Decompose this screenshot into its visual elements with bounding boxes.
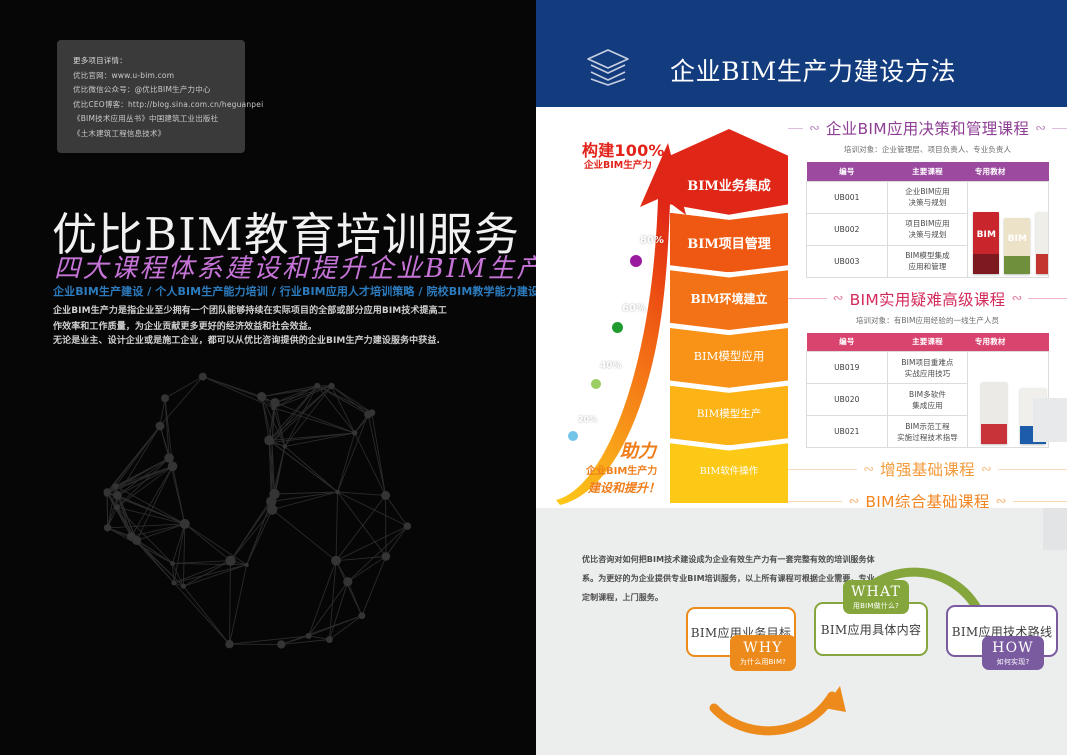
rule-right bbox=[1052, 128, 1067, 129]
contact-line: 《BIM技术应用丛书》中国建筑工业出版社 bbox=[73, 112, 229, 127]
rule-left bbox=[788, 128, 803, 129]
column-header: 编号 bbox=[807, 162, 888, 181]
contact-line: 优比官网：www.u-bim.com bbox=[73, 69, 229, 84]
pyramid-level-label: BIM环境建立 bbox=[670, 290, 788, 307]
textbook-images: BIMBIM bbox=[968, 181, 1049, 277]
course-table: 编号主要课程专用教材UB019BIM项目重难点实战应用技巧BIMUB020BIM… bbox=[806, 333, 1049, 449]
column-header: 专用教材 bbox=[968, 162, 1049, 181]
section-header-title: 企业BIM生产力建设方法 bbox=[670, 52, 956, 88]
textbook-cover: BIM bbox=[973, 212, 999, 274]
textbook-cover: BIM bbox=[1004, 218, 1030, 274]
milestone-label-20: 20% bbox=[578, 415, 597, 424]
contact-line: 《土木建筑工程信息技术》 bbox=[73, 127, 229, 142]
textbook-strip bbox=[973, 254, 999, 274]
section-title: BIM实用疑难高级课程 bbox=[850, 288, 1006, 310]
contact-line: 更多项目详情： bbox=[73, 54, 229, 69]
network-globe-graphic bbox=[40, 330, 480, 750]
course-name: 项目BIM应用决策与规划 bbox=[887, 213, 968, 245]
rule-right bbox=[1028, 298, 1067, 299]
section-audience: 培训对象：企业管理层、项目负责人、专业负责人 bbox=[788, 144, 1067, 155]
bim-capability-pyramid: BIM业务集成BIM项目管理BIM环境建立BIM模型应用BIM模型生产BIM软件… bbox=[670, 129, 788, 501]
section-advanced-course: ∾BIM实用疑难高级课程∾培训对象：有BIM应用经验的一线生产人员编号主要课程专… bbox=[788, 288, 1067, 449]
swirl-ornament-icon: ∾ bbox=[981, 463, 992, 476]
flow-why-tag-title: WHY bbox=[743, 640, 782, 656]
textbook-title: BIM bbox=[973, 231, 999, 240]
course-name: 企业BIM应用决策与规划 bbox=[887, 181, 968, 213]
pyramid-level-label: BIM业务集成 bbox=[670, 175, 788, 194]
section-title: 增强基础课程 bbox=[880, 458, 975, 480]
course-code: UB001 bbox=[807, 181, 888, 213]
milestone-dot-60 bbox=[610, 320, 625, 335]
swirl-ornament-icon: ∾ bbox=[833, 292, 844, 305]
rule-right bbox=[998, 469, 1067, 470]
swirl-ornament-icon: ∾ bbox=[1011, 292, 1022, 305]
rule-left bbox=[788, 501, 842, 502]
milestone-dot-40 bbox=[589, 377, 603, 391]
course-name: BIM模型集成应用和管理 bbox=[887, 245, 968, 277]
milestone-label-60: 60% bbox=[622, 303, 646, 314]
left-dark-panel: 更多项目详情： 优比官网：www.u-bim.com 优比微信公众号：@优比BI… bbox=[0, 0, 536, 755]
course-system-links[interactable]: 企业BIM生产建设 / 个人BIM生产能力培训 / 行业BIM应用人才培训策略 … bbox=[53, 283, 536, 299]
milestone-dot-20 bbox=[566, 429, 580, 443]
pyramid-level[interactable]: BIM模型应用 bbox=[670, 328, 788, 388]
column-header: 编号 bbox=[807, 333, 888, 352]
swirl-ornament-icon: ∾ bbox=[863, 463, 874, 476]
flow-how-tag-title: HOW bbox=[992, 640, 1034, 656]
page-edge-notch bbox=[1043, 508, 1067, 550]
pyramid-level-label: BIM项目管理 bbox=[670, 233, 788, 252]
pyramid-level-label: BIM模型应用 bbox=[670, 348, 788, 364]
rule-left bbox=[788, 298, 827, 299]
section-management-course: ∾企业BIM应用决策和管理课程∾培训对象：企业管理层、项目负责人、专业负责人编号… bbox=[788, 117, 1067, 278]
pyramid-level-label: BIM模型生产 bbox=[670, 406, 788, 421]
section-heading: ∾BIM实用疑难高级课程∾ bbox=[788, 288, 1067, 310]
pyramid-level[interactable]: BIM软件操作 bbox=[670, 443, 788, 503]
right-content-panel: 企业BIM生产力建设方法 构建100% 企业BIM生产力 80% 60% 40% bbox=[536, 0, 1067, 755]
milestone-dot-80 bbox=[628, 253, 644, 269]
flow-why-tag[interactable]: WHY 为什么用BIM? bbox=[730, 635, 796, 671]
stacked-layers-icon bbox=[585, 48, 631, 86]
swirl-ornament-icon: ∾ bbox=[996, 495, 1007, 508]
milestone-label-80: 80% bbox=[640, 235, 664, 246]
rule-left bbox=[788, 469, 857, 470]
arrow-bottom-label-2: 企业BIM生产力 bbox=[586, 462, 657, 477]
flow-how-tag[interactable]: HOW 如何实现? bbox=[982, 636, 1044, 670]
pyramid-level-label: BIM软件操作 bbox=[670, 463, 788, 477]
section-foundation-course: ∾增强基础课程∾ bbox=[788, 458, 1067, 480]
contact-line: 优比CEO博客：http://blog.sina.com.cn/heguanpe… bbox=[73, 98, 229, 113]
milestone-label-40: 40% bbox=[600, 361, 622, 371]
arrow-bottom-label-1: 助力 bbox=[620, 437, 656, 463]
section-audience: 培训对象：有BIM应用经验的一线生产人员 bbox=[788, 315, 1067, 326]
column-header: 专用教材 bbox=[968, 333, 1049, 352]
table-row[interactable]: UB001企业BIM应用决策与规划BIMBIM bbox=[807, 181, 1049, 213]
course-code: UB021 bbox=[807, 416, 888, 448]
pyramid-level[interactable]: BIM业务集成 bbox=[670, 129, 788, 215]
flow-what-tag[interactable]: WHAT 用BIM做什么? bbox=[843, 580, 909, 614]
flow-why-tag-sub: 为什么用BIM? bbox=[740, 658, 786, 666]
pyramid-level[interactable]: BIM模型生产 bbox=[670, 386, 788, 446]
column-header: 主要课程 bbox=[887, 333, 968, 352]
textbook-strip bbox=[1036, 254, 1048, 274]
contact-line: 优比微信公众号：@优比BIM生产力中心 bbox=[73, 83, 229, 98]
course-code: UB019 bbox=[807, 352, 888, 384]
section-heading: ∾企业BIM应用决策和管理课程∾ bbox=[788, 117, 1067, 139]
course-code: UB002 bbox=[807, 213, 888, 245]
table-header-row: 编号主要课程专用教材 bbox=[807, 333, 1049, 352]
section-title: 企业BIM应用决策和管理课程 bbox=[826, 117, 1029, 139]
flow-what-tag-sub: 用BIM做什么? bbox=[853, 602, 899, 610]
section-heading: ∾增强基础课程∾ bbox=[788, 458, 1067, 480]
bottom-summary-zone: 优比咨询对如何把BIM技术建设成为企业有效生产力有一套完整有效的培训服务体系。为… bbox=[536, 508, 1067, 755]
contact-card: 更多项目详情： 优比官网：www.u-bim.com 优比微信公众号：@优比BI… bbox=[57, 40, 245, 153]
pyramid-level[interactable]: BIM项目管理 bbox=[670, 213, 788, 273]
textbook-strip bbox=[1004, 256, 1030, 274]
textbook-cover bbox=[1036, 212, 1048, 274]
flow-what-tag-title: WHAT bbox=[851, 584, 901, 600]
course-sections: ∾企业BIM应用决策和管理课程∾培训对象：企业管理层、项目负责人、专业负责人编号… bbox=[788, 107, 1067, 505]
arrow-bottom-label-3: 建设和提升！ bbox=[588, 479, 660, 496]
course-name: BIM多软件集成应用 bbox=[887, 384, 968, 416]
table-row[interactable]: UB019BIM项目重难点实战应用技巧BIM bbox=[807, 352, 1049, 384]
swirl-ornament-icon: ∾ bbox=[809, 122, 820, 135]
table-header-row: 编号主要课程专用教材 bbox=[807, 162, 1049, 181]
swirl-ornament-icon: ∾ bbox=[848, 495, 859, 508]
course-code: UB020 bbox=[807, 384, 888, 416]
course-code: UB003 bbox=[807, 245, 888, 277]
textbook-title: BIM bbox=[1004, 235, 1030, 244]
course-name: BIM项目重难点实战应用技巧 bbox=[887, 352, 968, 384]
column-header: 主要课程 bbox=[887, 162, 968, 181]
swirl-ornament-icon: ∾ bbox=[1035, 122, 1046, 135]
section-header-bar: 企业BIM生产力建设方法 bbox=[536, 0, 1067, 107]
page-edge-notch bbox=[1033, 398, 1067, 442]
rule-right bbox=[1013, 501, 1067, 502]
flow-what-box-label: BIM应用具体内容 bbox=[821, 621, 922, 638]
pyramid-level[interactable]: BIM环境建立 bbox=[670, 270, 788, 330]
textbook-cover bbox=[981, 382, 1007, 444]
page-subtitle: 四大课程体系建设和提升企业BIM生产力 bbox=[54, 248, 536, 285]
flow-how-tag-sub: 如何实现? bbox=[997, 658, 1030, 666]
textbook-strip bbox=[981, 424, 1007, 444]
course-table: 编号主要课程专用教材UB001企业BIM应用决策与规划BIMBIMUB002项目… bbox=[806, 162, 1049, 278]
course-name: BIM示范工程实施过程技术指导 bbox=[887, 416, 968, 448]
